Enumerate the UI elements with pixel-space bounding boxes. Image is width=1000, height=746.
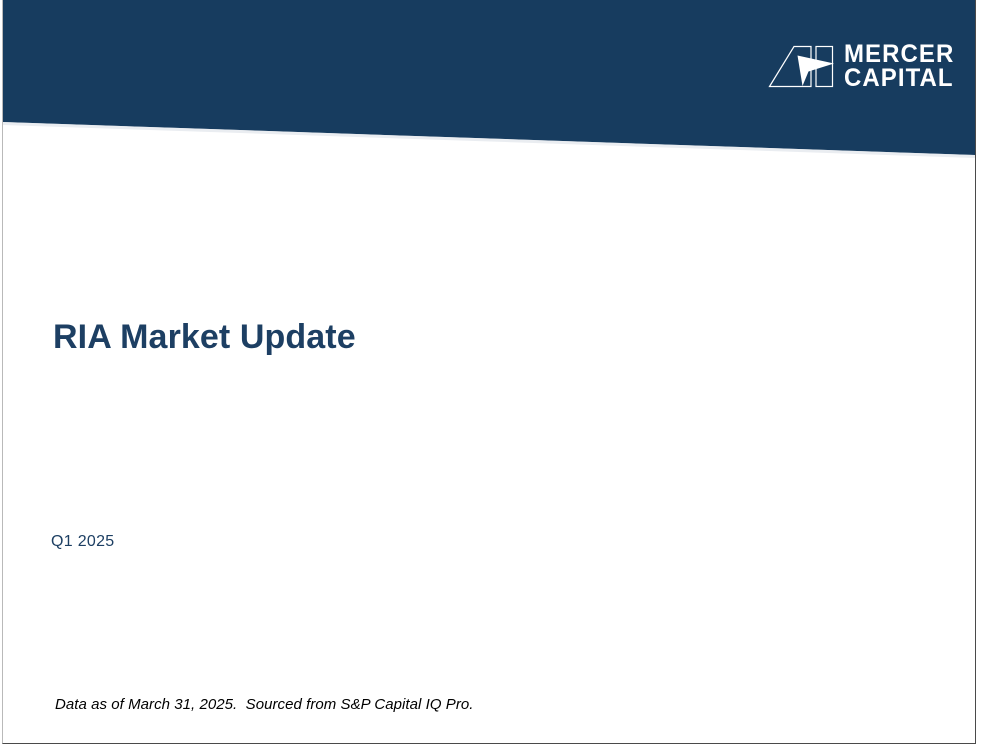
slide-canvas: MERCER CAPITAL RIA Market Update Q1 2025… bbox=[2, 0, 976, 744]
mercer-capital-wordmark: MERCER CAPITAL bbox=[844, 42, 959, 90]
page-title: RIA Market Update bbox=[53, 318, 356, 357]
brand-name-line2: CAPITAL bbox=[844, 66, 954, 90]
slide-period-label: Q1 2025 bbox=[51, 533, 114, 551]
slide-root: MERCER CAPITAL RIA Market Update Q1 2025… bbox=[0, 0, 1000, 746]
mercer-capital-logo: MERCER CAPITAL bbox=[767, 42, 959, 90]
brand-name-line1: MERCER bbox=[844, 42, 954, 66]
data-source-note: Data as of March 31, 2025. Sourced from … bbox=[55, 696, 473, 713]
mercer-capital-mark-icon bbox=[767, 43, 835, 89]
